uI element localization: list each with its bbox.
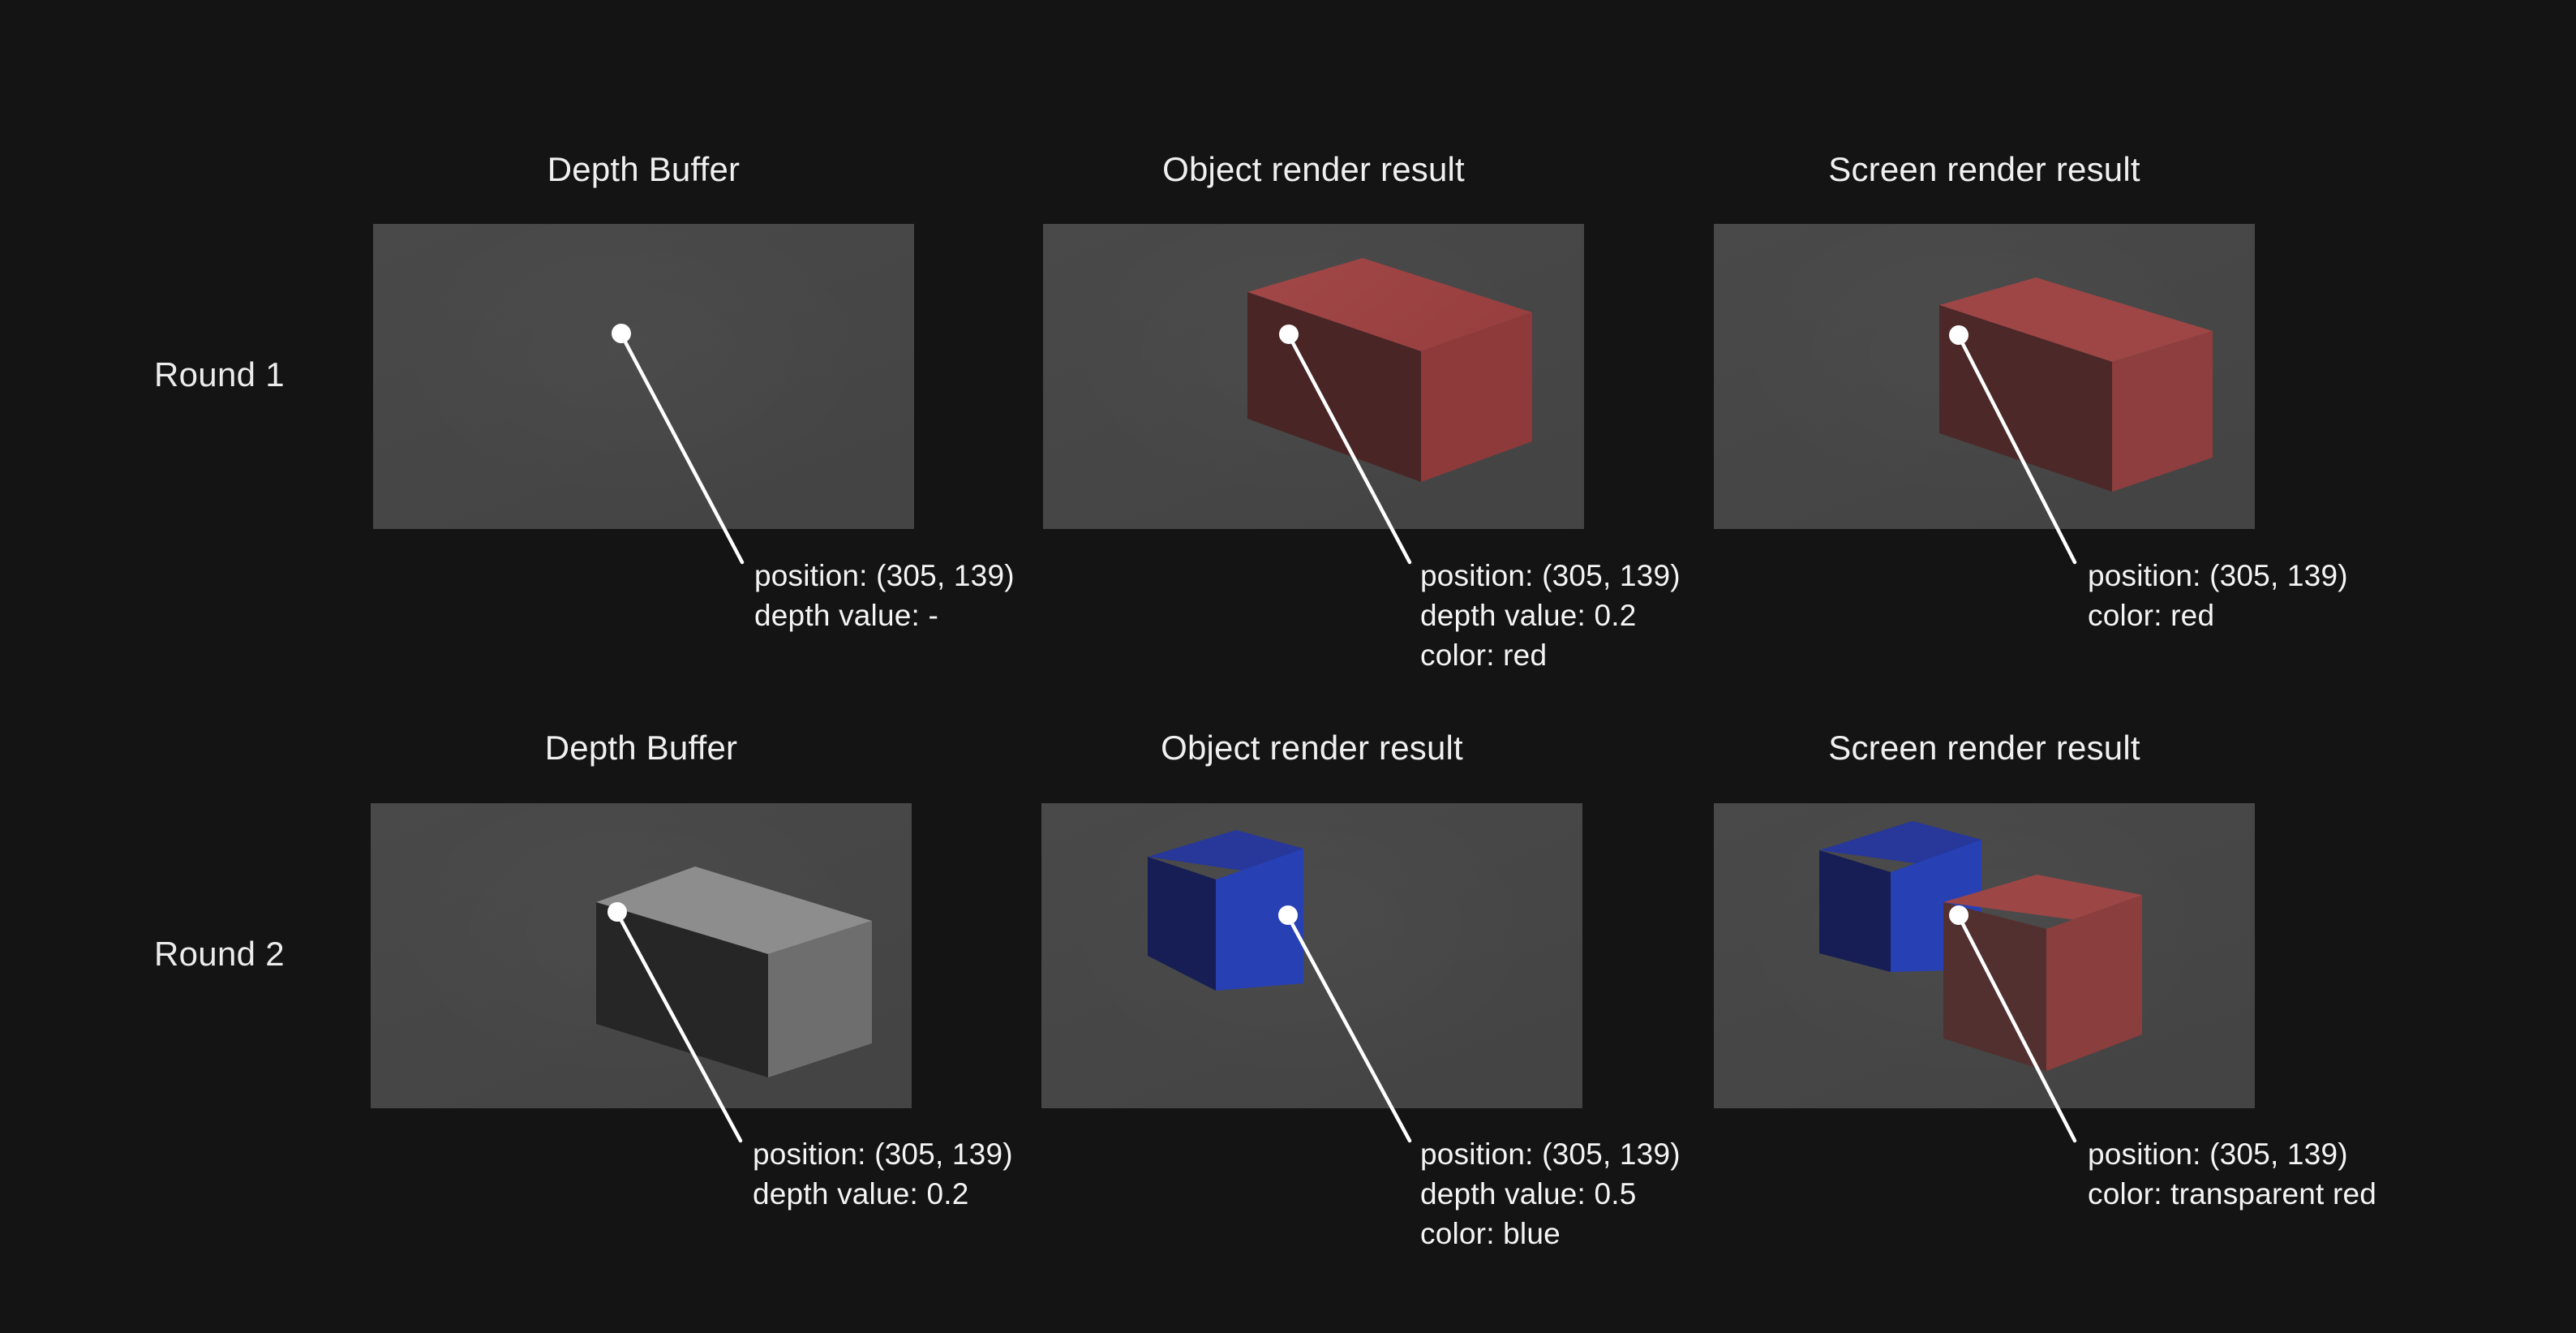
annotation-text-r1c2: position: (305, 139) depth value: 0.2 co… (1420, 557, 1681, 675)
annotation-text-r2c2: position: (305, 139) depth value: 0.5 co… (1420, 1135, 1681, 1253)
annotation-line: color: red (1420, 636, 1681, 676)
annotation-line: position: (305, 139) (2088, 557, 2348, 596)
diagram-stage: Round 1 Round 2 Depth Buffer Object rend… (0, 0, 2576, 1333)
annotation-line: position: (305, 139) (754, 557, 1015, 596)
viewport-object-render-r1 (1043, 224, 1584, 529)
panel-title-object-render-r1: Object render result (1043, 150, 1584, 189)
annotation-line: color: red (2088, 596, 2348, 636)
annotation-line: depth value: 0.2 (753, 1175, 1013, 1215)
annotation-text-r2c3: position: (305, 139) color: transparent … (2088, 1135, 2376, 1215)
red-cube-r1c3 (1714, 224, 2255, 529)
blue-cube-r2c2 (1041, 803, 1582, 1108)
red-cube-r1c2 (1043, 224, 1584, 529)
viewport-screen-render-r2 (1714, 803, 2255, 1108)
viewport-shading-r1c1 (373, 224, 914, 529)
panel-title-screen-render-r1: Screen render result (1714, 150, 2255, 189)
panel-title-screen-render-r2: Screen render result (1714, 729, 2255, 768)
annotation-line: color: transparent red (2088, 1175, 2376, 1215)
panel-title-depth-buffer-r2: Depth Buffer (371, 729, 912, 768)
panel-title-object-render-r2: Object render result (1041, 729, 1582, 768)
viewport-depth-buffer-r1 (373, 224, 914, 529)
annotation-overlay (0, 0, 2576, 1333)
annotation-line: color: blue (1420, 1215, 1681, 1254)
viewport-depth-buffer-r2 (371, 803, 912, 1108)
transparent-red-cube-r2c3 (1714, 803, 2255, 1108)
viewport-object-render-r2 (1041, 803, 1582, 1108)
depth-cube-r2c1 (371, 803, 912, 1108)
annotation-line: depth value: 0.2 (1420, 596, 1681, 636)
annotation-line: position: (305, 139) (1420, 1135, 1681, 1175)
annotation-line: position: (305, 139) (2088, 1135, 2376, 1175)
row-label-round-2: Round 2 (154, 935, 285, 974)
annotation-line: depth value: 0.5 (1420, 1175, 1681, 1215)
annotation-text-r2c1: position: (305, 139) depth value: 0.2 (753, 1135, 1013, 1215)
annotation-line: depth value: - (754, 596, 1015, 636)
row-label-round-1: Round 1 (154, 355, 285, 394)
annotation-line: position: (305, 139) (753, 1135, 1013, 1175)
annotation-text-r1c3: position: (305, 139) color: red (2088, 557, 2348, 636)
panel-title-depth-buffer-r1: Depth Buffer (373, 150, 914, 189)
annotation-text-r1c1: position: (305, 139) depth value: - (754, 557, 1015, 636)
viewport-screen-render-r1 (1714, 224, 2255, 529)
annotation-line: position: (305, 139) (1420, 557, 1681, 596)
